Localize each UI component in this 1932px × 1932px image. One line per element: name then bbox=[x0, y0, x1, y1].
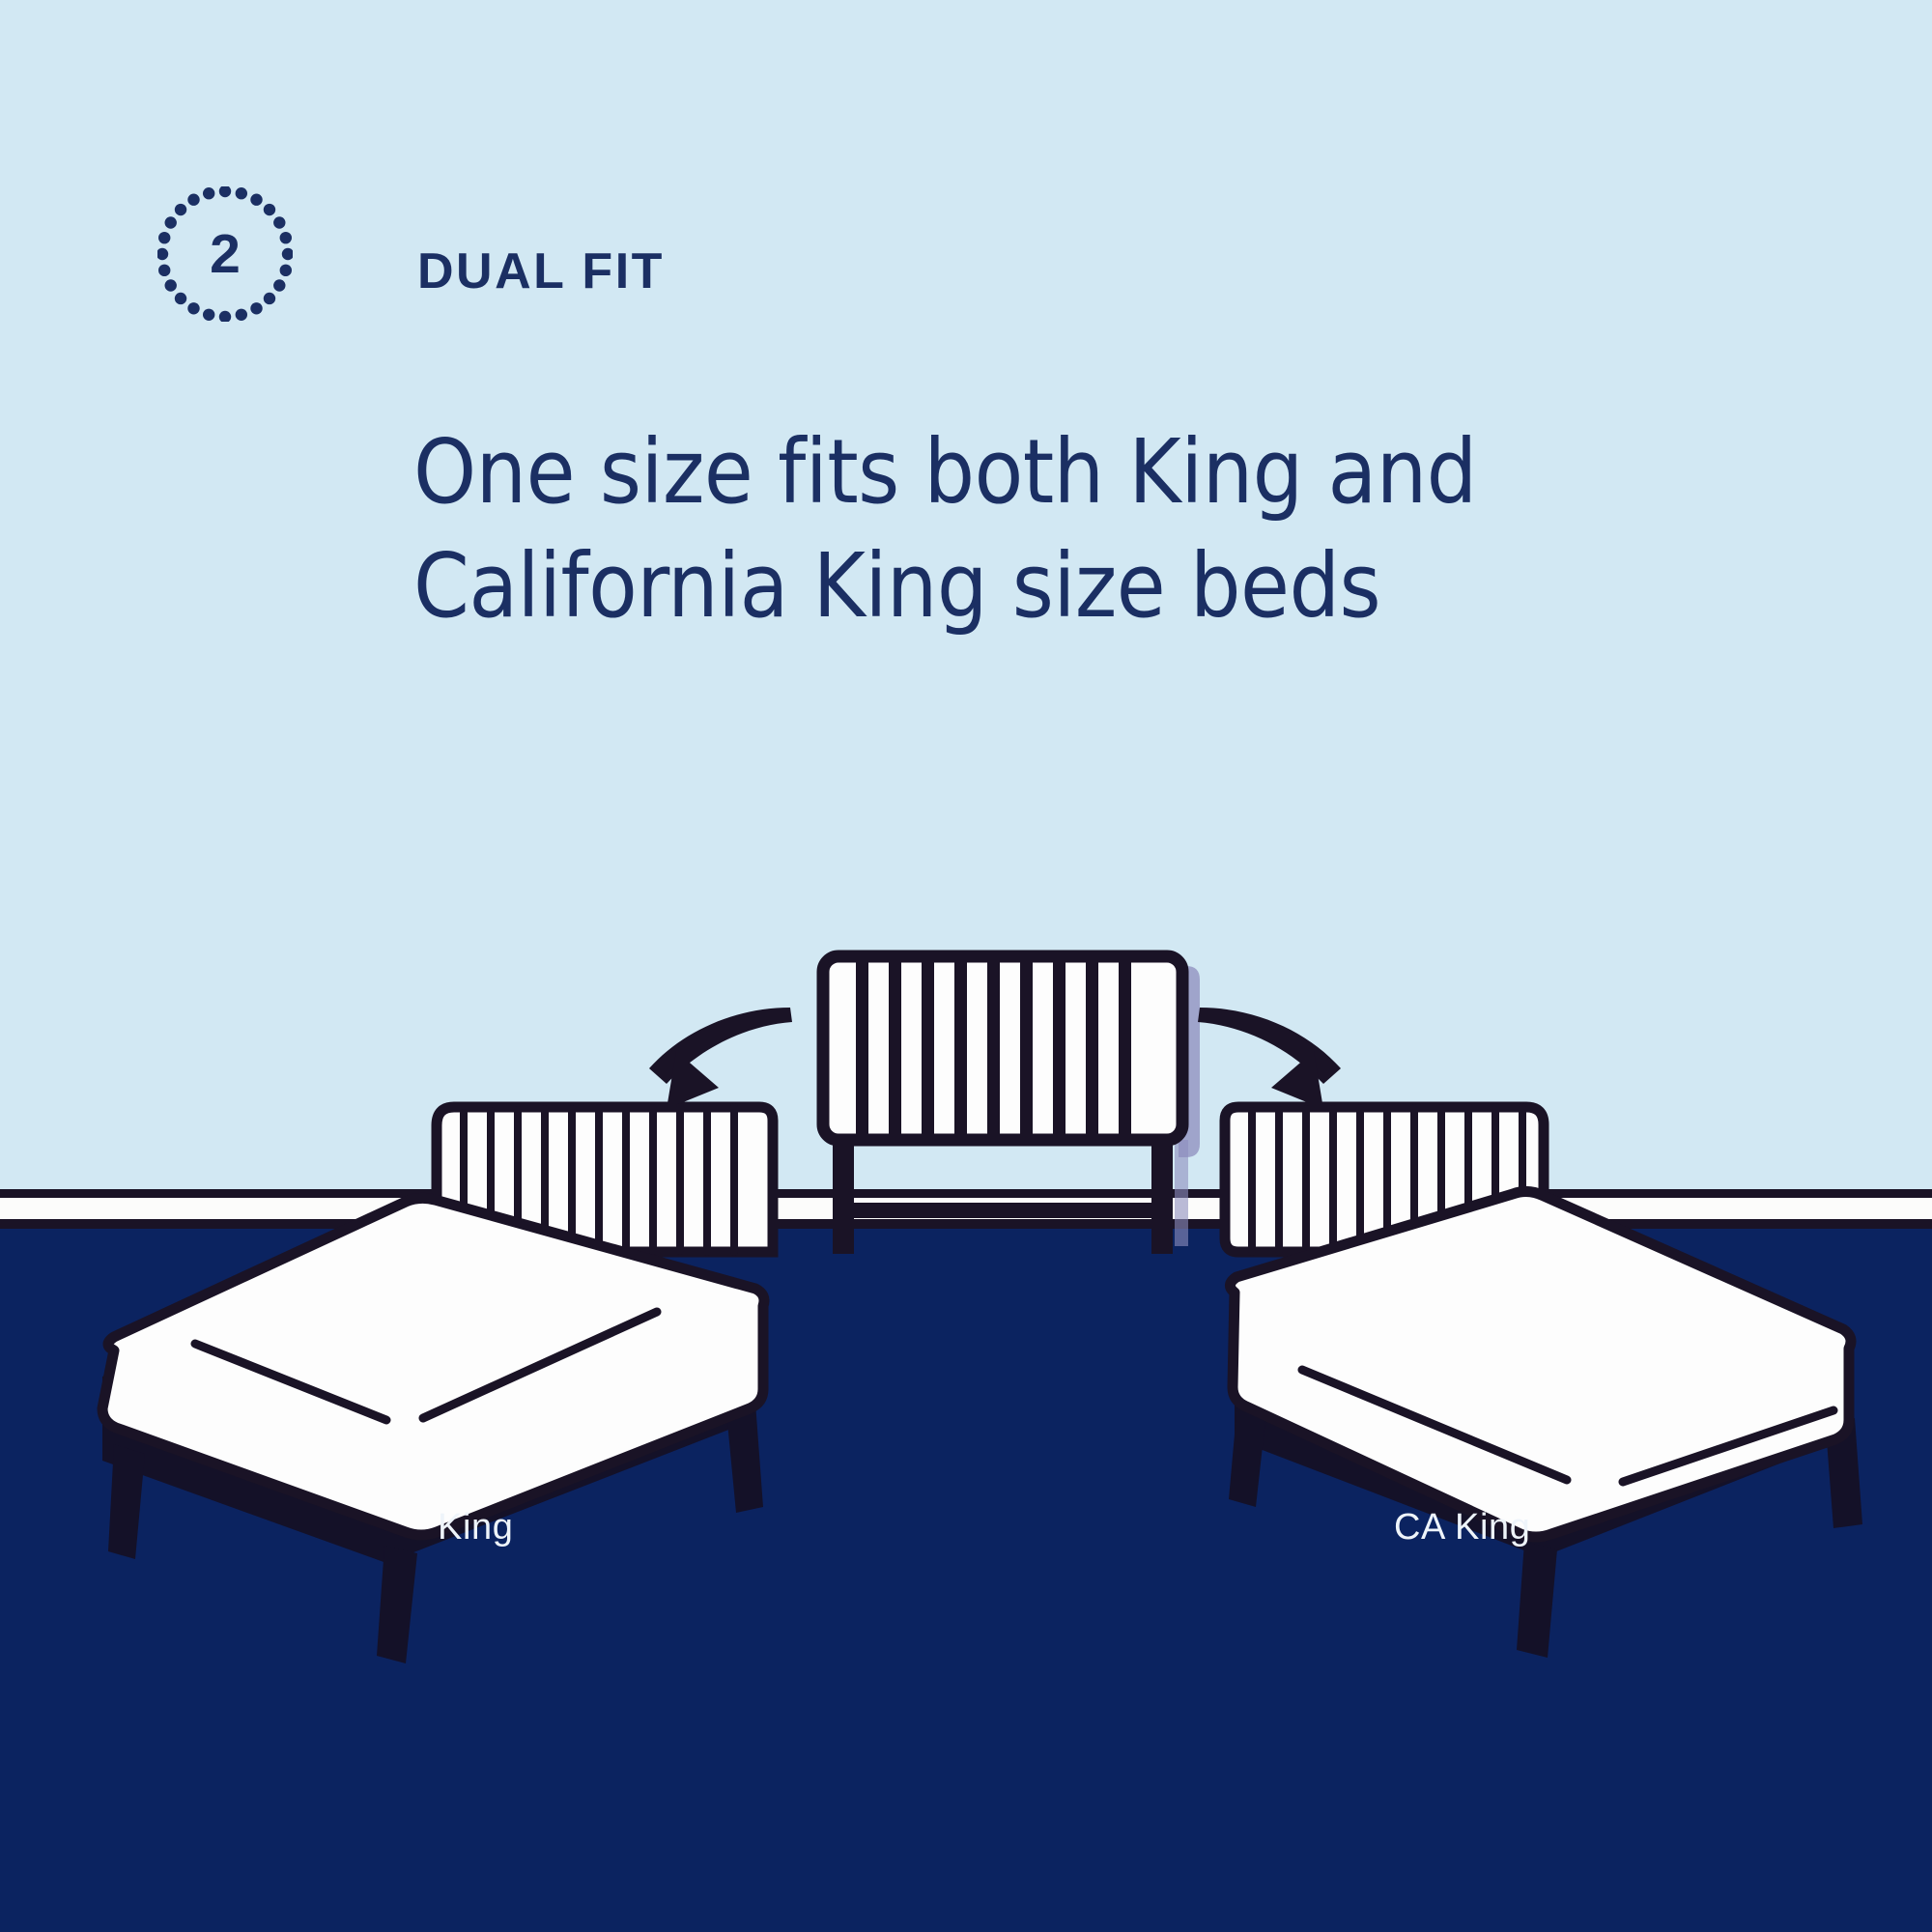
step-number-badge: 2 bbox=[157, 186, 293, 322]
baseboard bbox=[0, 1198, 1932, 1219]
headline-line-2: California King size beds bbox=[413, 529, 1795, 643]
baseboard-bottom-line bbox=[0, 1219, 1932, 1229]
section-eyebrow: DUAL FIT bbox=[417, 242, 665, 300]
step-number: 2 bbox=[157, 186, 293, 322]
infographic-canvas: 2 DUAL FIT One size fits both King and C… bbox=[0, 0, 1932, 1932]
headline-line-1: One size fits both King and bbox=[413, 415, 1795, 529]
ca-king-bed-label: CA King bbox=[1394, 1507, 1531, 1548]
baseboard-top-line bbox=[0, 1189, 1932, 1198]
king-bed-label: King bbox=[438, 1507, 513, 1548]
page-title: One size fits both King and California K… bbox=[413, 415, 1795, 643]
floor-background bbox=[0, 1229, 1932, 1932]
